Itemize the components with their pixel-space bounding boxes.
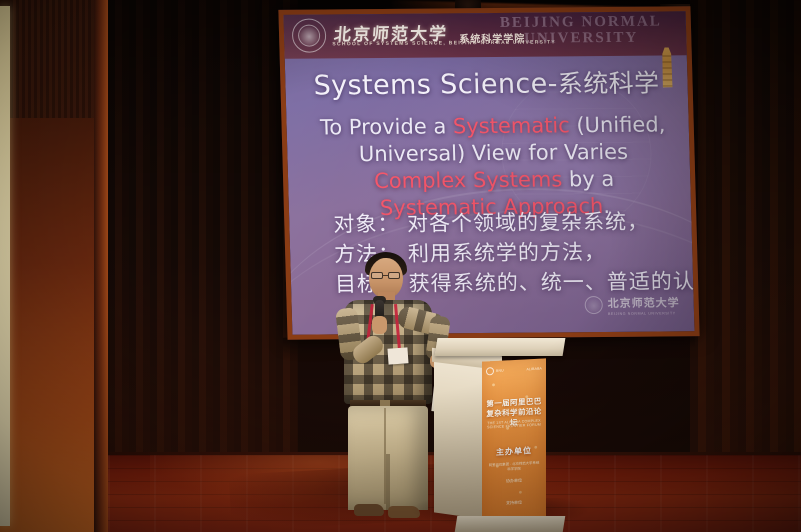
bnu-seal-icon [584,296,603,314]
bnu-seal-icon [292,18,327,52]
curtain-shading [690,0,801,468]
bnu-seal-icon [486,367,494,375]
slide-title-cn: 系统科学 [557,69,659,99]
body-line2-highlight: Complex [374,168,467,193]
banner-logo-bnu: BNU [486,367,504,376]
slide-footer-logo-text: 北京师范大学 BEIJING NORMAL UNIVERSITY [607,293,680,316]
stage-curtain-left [108,0,298,470]
body-line3-highlight1: Systems [473,167,563,192]
footer-logo-cn: 北京师范大学 [608,296,680,310]
chinese-line-1: 对象： 对各个领域的复杂系统， [333,206,672,239]
body-line2-a: Universal) View for Varies [359,140,629,166]
body-line3-a: by a [562,167,615,191]
footer-logo-en: BEIJING NORMAL UNIVERSITY [608,311,680,316]
wall-pillar [94,0,108,532]
curtain-shading [108,0,298,470]
podium-side-panel [434,356,486,519]
podium: BNU ALIBABA 第一届阿里巴巴 复杂科学前沿论坛 THE 1ST ALI… [430,338,570,532]
eyeglasses-icon [388,272,400,279]
speaker-left-hand [372,316,387,334]
podium-base [455,516,566,532]
slide-title-en: Systems Science- [313,68,558,101]
body-line1-highlight: Systematic [453,113,570,138]
banner-logo-alibaba: ALIBABA [526,367,542,372]
banner-logo-left-text: BNU [496,368,504,372]
podium-top [435,338,566,356]
body-line1-b: (Unified, [569,112,665,137]
name-badge [387,347,408,364]
lit-wall-edge [0,6,10,526]
slide-body-text: To Provide a Systematic (Unified, Univer… [314,111,673,222]
trouser-leg-split [386,454,390,510]
body-line1-a: To Provide a [320,114,454,139]
speaker-shoe-left [354,504,384,516]
eyeglasses-icon [371,272,383,279]
podium-front-banner: BNU ALIBABA 第一届阿里巴巴 复杂科学前沿论坛 THE 1ST ALI… [482,358,546,531]
slide-title: Systems Science-系统科学 [285,63,688,102]
banner-organizer-badge: 主办单位 [494,445,534,458]
slide-footer-logo: 北京师范大学 BEIJING NORMAL UNIVERSITY [584,293,680,316]
university-watermark: BEIJING NORMAL UNIVERSITY [486,13,677,47]
conference-hall-scene: 北京师范大学 SCHOOL OF SYSTEMS SCIENCE, BEIJIN… [0,0,801,532]
slide-header-band: 北京师范大学 SCHOOL OF SYSTEMS SCIENCE, BEIJIN… [284,11,687,58]
eyeglasses-bridge [383,275,388,276]
stage-curtain-right [690,0,801,468]
